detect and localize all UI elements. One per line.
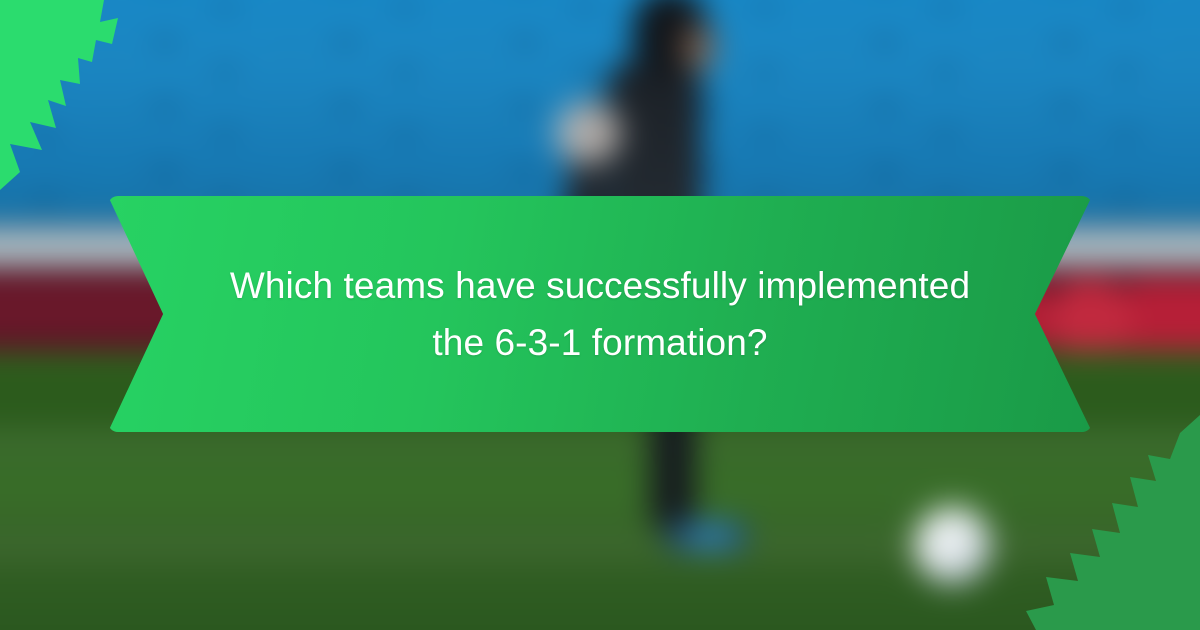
player-boot	[664, 521, 748, 551]
player-face	[682, 24, 716, 72]
pitch-stripe	[0, 528, 1200, 564]
question-text: Which teams have successfully implemente…	[216, 257, 984, 372]
player-held-ball	[555, 102, 621, 164]
quote-card: Which teams have successfully implemente…	[0, 0, 1200, 630]
soccer-ball	[914, 507, 992, 585]
pitch-stripe	[0, 429, 1200, 457]
question-banner: Which teams have successfully implemente…	[108, 196, 1092, 432]
